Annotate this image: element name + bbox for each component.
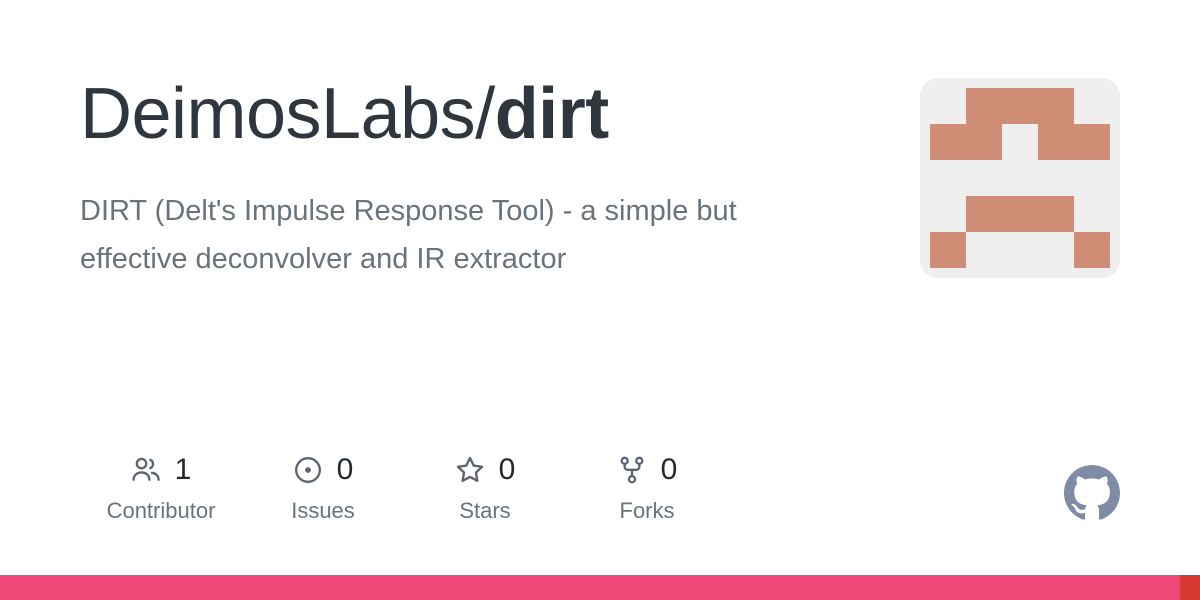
stat-value: 0 — [661, 455, 678, 485]
identicon-cell-1-4 — [1074, 124, 1110, 160]
language-bar-segment-0 — [0, 575, 1180, 600]
identicon-cell-3-2 — [1002, 196, 1038, 232]
stat-label: Contributor — [107, 500, 216, 522]
identicon-cell-2-3 — [1038, 160, 1074, 196]
github-social-preview-card: DeimosLabs/dirt DIRT (Delt's Impulse Res… — [0, 0, 1200, 600]
identicon-cell-1-2 — [1002, 124, 1038, 160]
stat-top-row: 0 — [617, 450, 678, 490]
identicon-cell-0-2 — [1002, 88, 1038, 124]
identicon-cell-3-1 — [966, 196, 1002, 232]
identicon-cell-1-3 — [1038, 124, 1074, 160]
identicon-cell-2-4 — [1074, 160, 1110, 196]
stat-contributor[interactable]: 1Contributor — [80, 450, 242, 522]
identicon-cell-1-0 — [930, 124, 966, 160]
identicon-cell-2-2 — [1002, 160, 1038, 196]
stat-top-row: 1 — [131, 450, 192, 490]
stat-top-row: 0 — [455, 450, 516, 490]
identicon-cell-0-0 — [930, 88, 966, 124]
language-bar-segment-1 — [1180, 575, 1200, 600]
identicon-cell-2-1 — [966, 160, 1002, 196]
page-title: DeimosLabs/dirt — [80, 78, 840, 150]
github-mark-icon — [1064, 465, 1120, 526]
identicon-avatar — [920, 78, 1120, 278]
identicon-cell-4-3 — [1038, 232, 1074, 268]
identicon-cell-4-4 — [1074, 232, 1110, 268]
identicon-cell-3-3 — [1038, 196, 1074, 232]
identicon-cell-2-0 — [930, 160, 966, 196]
star-icon — [455, 455, 485, 485]
identicon-cell-0-4 — [1074, 88, 1110, 124]
identicon-cell-4-1 — [966, 232, 1002, 268]
repo-forked-icon — [617, 455, 647, 485]
stat-label: Issues — [291, 500, 355, 522]
stat-stars[interactable]: 0Stars — [404, 450, 566, 522]
identicon-cell-1-1 — [966, 124, 1002, 160]
stat-top-row: 0 — [293, 450, 354, 490]
repo-owner[interactable]: DeimosLabs — [80, 74, 475, 154]
title-block: DeimosLabs/dirt DIRT (Delt's Impulse Res… — [80, 78, 840, 284]
repo-separator: / — [475, 74, 495, 154]
identicon-cell-4-0 — [930, 232, 966, 268]
identicon-cell-0-3 — [1038, 88, 1074, 124]
repo-name[interactable]: dirt — [495, 74, 609, 154]
issue-opened-icon — [293, 455, 323, 485]
stat-issues[interactable]: 0Issues — [242, 450, 404, 522]
people-icon — [131, 455, 161, 485]
stat-value: 0 — [337, 455, 354, 485]
stat-label: Stars — [459, 500, 510, 522]
repo-stats: 1Contributor0Issues0Stars0Forks — [80, 450, 728, 522]
identicon-cell-0-1 — [966, 88, 1002, 124]
stat-value: 1 — [175, 455, 192, 485]
identicon-cell-4-2 — [1002, 232, 1038, 268]
header-region: DeimosLabs/dirt DIRT (Delt's Impulse Res… — [80, 78, 1120, 284]
stat-forks[interactable]: 0Forks — [566, 450, 728, 522]
stat-label: Forks — [620, 500, 675, 522]
identicon-cell-3-0 — [930, 196, 966, 232]
identicon-cell-3-4 — [1074, 196, 1110, 232]
repo-description: DIRT (Delt's Impulse Response Tool) - a … — [80, 150, 840, 284]
language-bar — [0, 575, 1200, 600]
stat-value: 0 — [499, 455, 516, 485]
